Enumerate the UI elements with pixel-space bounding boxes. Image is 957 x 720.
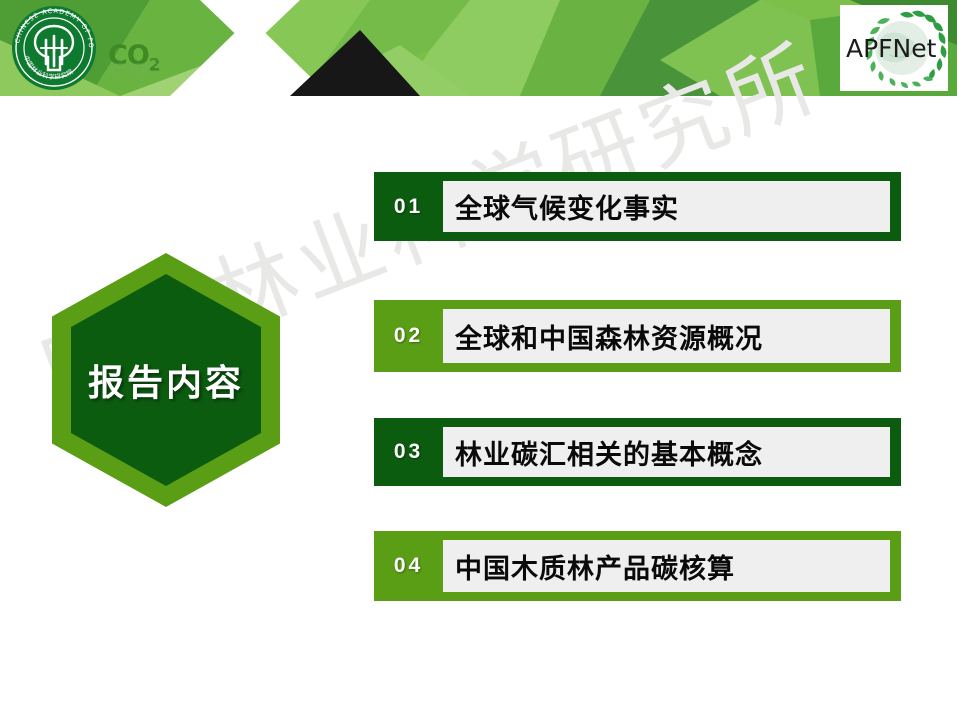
content-item-02[interactable]: 02全球和中国森林资源概况	[374, 300, 901, 372]
content-item-number: 04	[374, 531, 443, 601]
presentation-slide: CHINESE ACADEMY OF FORESTRY 中国林业科学研究院 CO…	[0, 0, 957, 720]
content-item-panel: 全球和中国森林资源概况	[443, 309, 890, 363]
content-item-01[interactable]: 01全球气候变化事实	[374, 172, 901, 241]
apfnet-wordmark: APFNet	[846, 34, 937, 63]
report-contents-hexagon: 报告内容	[52, 253, 280, 507]
content-item-title: 全球气候变化事实	[455, 187, 679, 226]
apfnet-globe-icon: APFNet	[840, 5, 948, 91]
content-item-number: 01	[374, 172, 443, 241]
content-item-title: 林业碳汇相关的基本概念	[455, 433, 763, 472]
caf-seal-icon: CHINESE ACADEMY OF FORESTRY 中国林业科学研究院	[8, 4, 100, 92]
apfnet-logo: APFNet	[840, 5, 948, 91]
co2-main-reflect: CO	[108, 59, 149, 76]
co2-reflection: CO2	[108, 58, 180, 76]
content-item-04[interactable]: 04中国木质林产品碳核算	[374, 531, 901, 601]
co2-mark: CO2 CO2	[108, 42, 180, 94]
header-banner: CHINESE ACADEMY OF FORESTRY 中国林业科学研究院 CO…	[0, 0, 957, 96]
content-item-panel: 全球气候变化事实	[443, 181, 890, 232]
co2-subscript-reflect: 2	[149, 57, 160, 68]
content-item-title: 全球和中国森林资源概况	[455, 317, 763, 356]
content-item-03[interactable]: 03林业碳汇相关的基本概念	[374, 418, 901, 486]
content-item-panel: 中国木质林产品碳核算	[443, 540, 890, 592]
content-item-number: 02	[374, 300, 443, 372]
hexagon-label: 报告内容	[52, 253, 280, 507]
content-item-panel: 林业碳汇相关的基本概念	[443, 427, 890, 477]
content-item-number: 03	[374, 418, 443, 486]
content-item-title: 中国木质林产品碳核算	[455, 547, 735, 586]
